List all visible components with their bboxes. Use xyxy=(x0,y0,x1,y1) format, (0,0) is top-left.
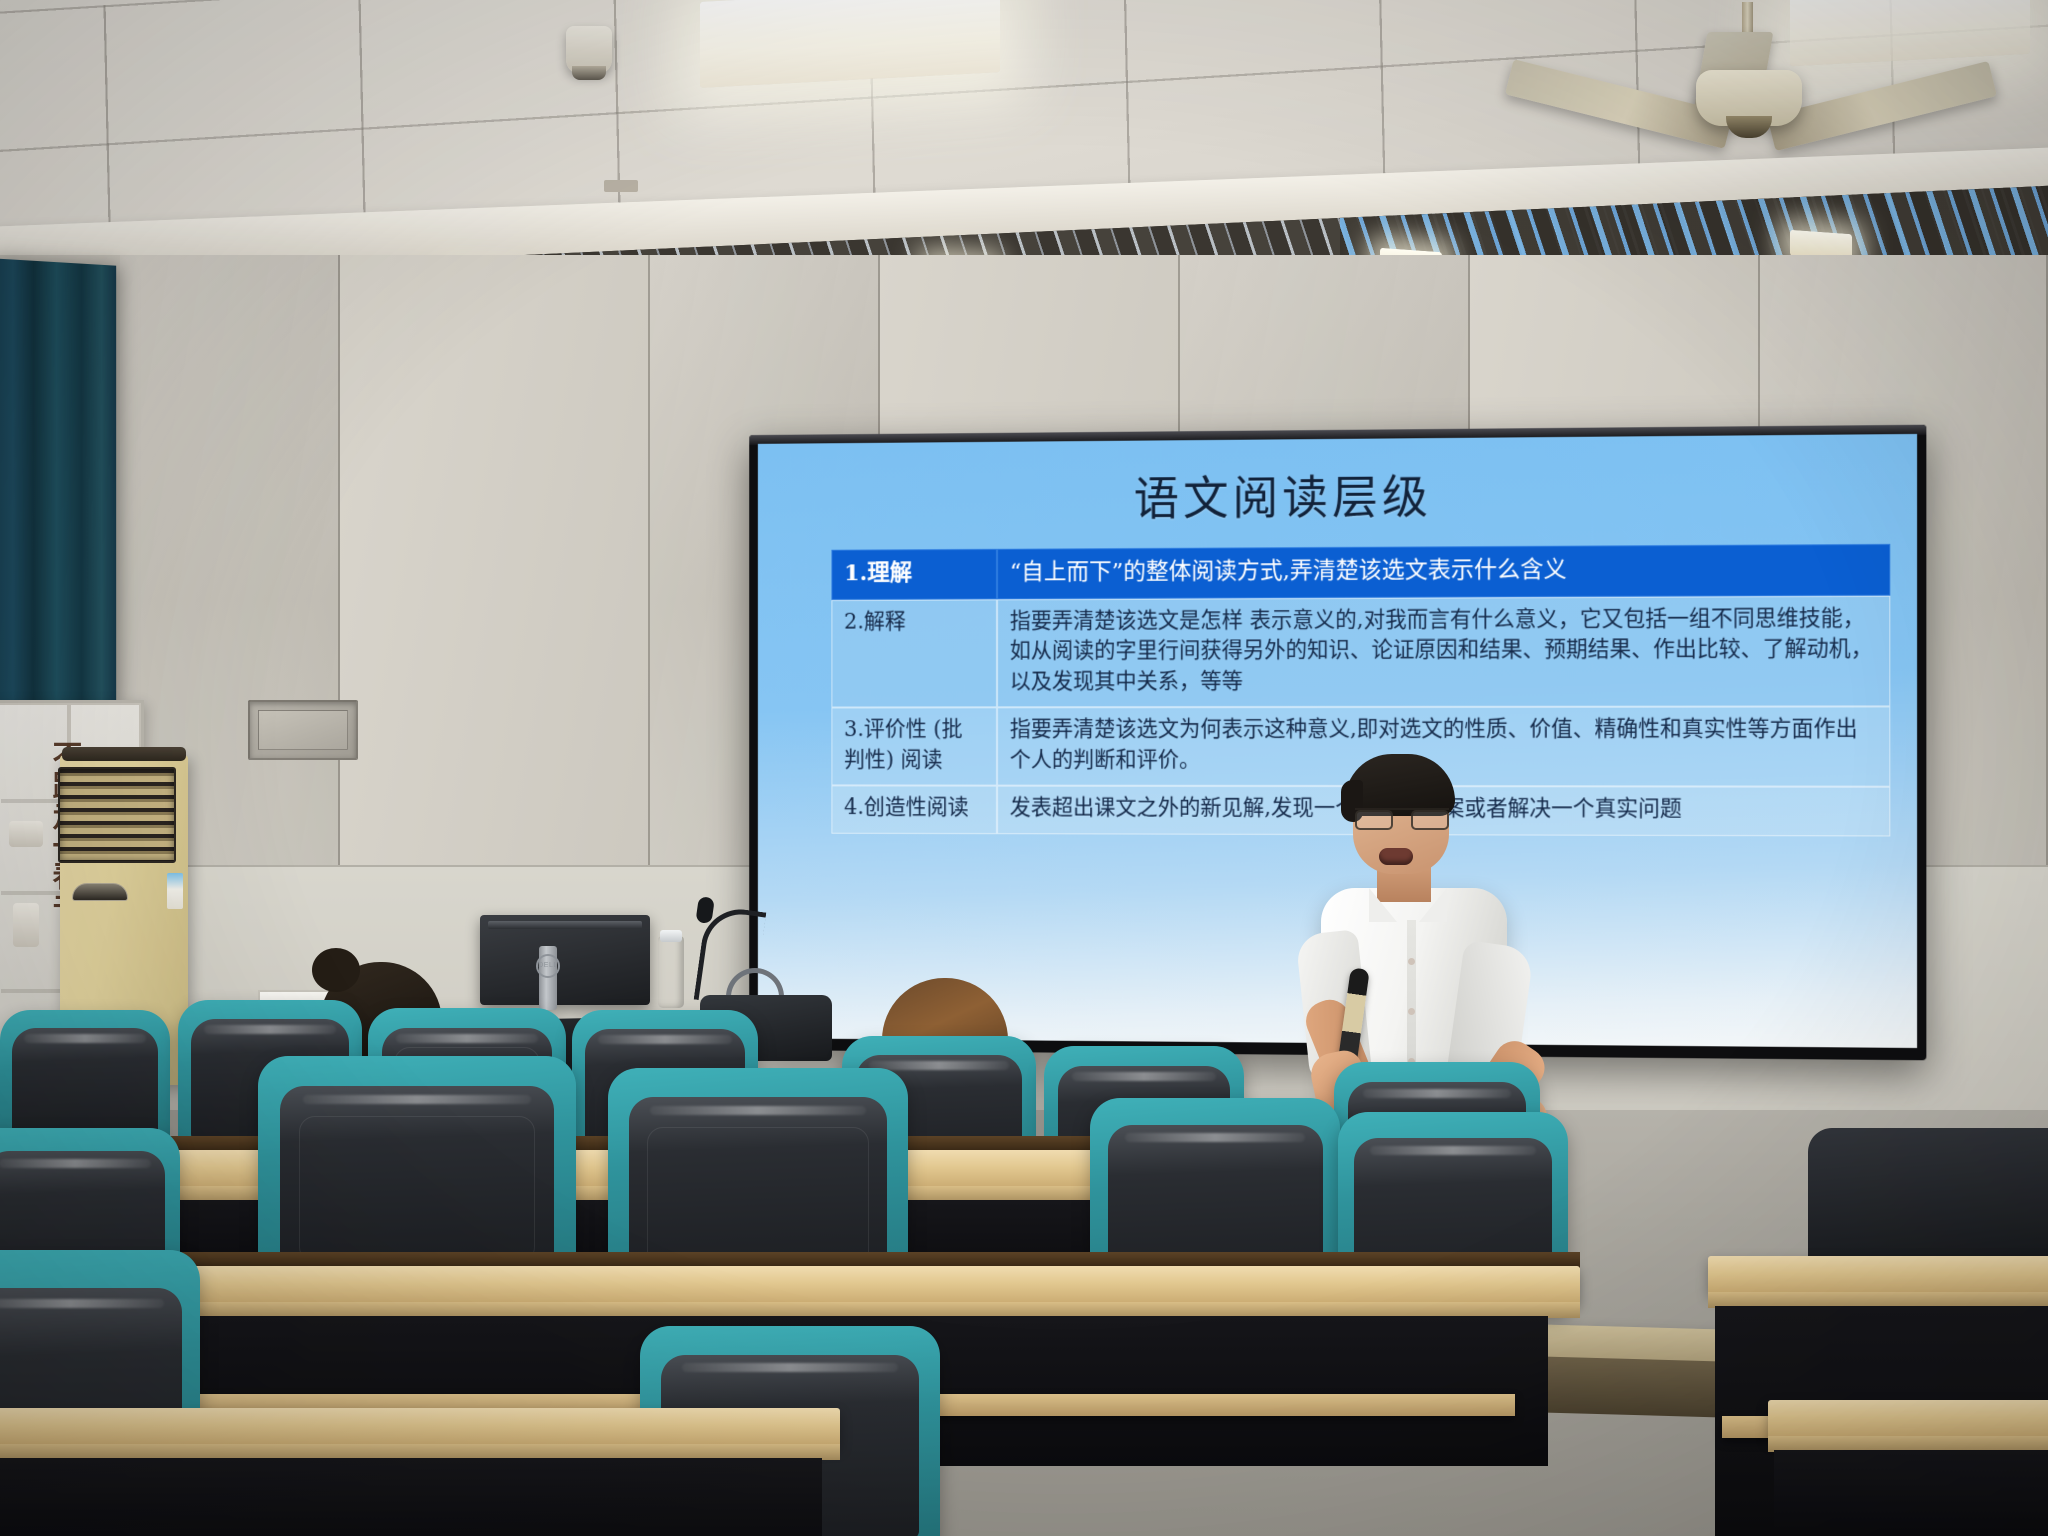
chair-highlight xyxy=(598,1035,732,1044)
chair-highlight xyxy=(1370,1146,1536,1155)
slide-row-label: 2.解释 xyxy=(831,599,997,708)
slide-title: 语文阅读层级 xyxy=(758,456,1917,530)
cabinet-item-vase xyxy=(13,903,39,947)
desk-surface[interactable] xyxy=(1768,1400,2048,1438)
slide-row-text: “自上而下”的整体阅读方式,弄清楚该选文表示什么含义 xyxy=(997,544,1890,599)
chair-seam xyxy=(299,1116,534,1263)
slide-row-label: 1.理解 xyxy=(831,549,997,600)
desk-body xyxy=(1774,1450,2048,1536)
chair-highlight xyxy=(396,1034,539,1043)
window-curtain xyxy=(0,258,116,716)
chair-highlight xyxy=(1072,1072,1216,1081)
chair-highlight xyxy=(0,1299,164,1308)
presenter-hair xyxy=(1345,754,1455,816)
air-conditioner-vent-grill xyxy=(58,767,176,863)
classroom-photo-scene: 不路走一春书 语文阅读层级 1.理解 “自上而下”的整体阅读方式,弄清楚该选文表… xyxy=(0,0,2048,1536)
presenter-shirt-button xyxy=(1408,1008,1415,1015)
slide-table-row: 2.解释 指要弄清楚该选文是怎样 表示意义的,对我而言有什么意义，它又包括一组不… xyxy=(831,595,1890,707)
glasses-icon xyxy=(1355,808,1449,828)
cabinet-item-box xyxy=(9,821,43,847)
wall-service-panel xyxy=(248,700,358,760)
presenter-collar-right xyxy=(1419,888,1447,922)
desk-body xyxy=(0,1458,822,1536)
chair-highlight xyxy=(204,1025,336,1034)
chair-seam xyxy=(647,1127,869,1272)
chair-highlight xyxy=(1125,1133,1305,1142)
dell-monitor[interactable] xyxy=(480,915,650,1005)
smoke-detector xyxy=(566,26,612,74)
dell-logo-icon: DELL xyxy=(536,954,560,978)
chair-highlight xyxy=(303,1095,532,1104)
presenter-mouth xyxy=(1379,848,1413,865)
slide-row-text: 指要弄清楚该选文是怎样 表示意义的,对我而言有什么意义，它又包括一组不同思维技能… xyxy=(997,595,1890,707)
chair-highlight xyxy=(0,1159,151,1168)
presenter-collar-left xyxy=(1369,888,1397,922)
desk-surface[interactable] xyxy=(0,1408,840,1446)
slide-row-label: 3.评价性 (批 判性) 阅读 xyxy=(831,708,997,786)
water-bottle[interactable] xyxy=(658,936,684,1008)
glasses-lens-left xyxy=(1355,810,1393,830)
chair-highlight xyxy=(24,1034,146,1043)
air-conditioner-control-panel[interactable] xyxy=(72,883,128,901)
ceiling-vent-stub xyxy=(604,180,638,192)
glasses-lens-right xyxy=(1411,810,1449,830)
chair-highlight xyxy=(1363,1089,1511,1098)
presenter-shirt-button xyxy=(1408,958,1415,965)
student-desk xyxy=(1768,1400,2048,1536)
chair-highlight xyxy=(650,1106,866,1115)
air-conditioner-top-cap xyxy=(62,747,186,761)
ceiling-fan-blade-right xyxy=(1767,61,1997,151)
air-conditioner-energy-label xyxy=(167,873,183,909)
desk-surface[interactable] xyxy=(1708,1256,2048,1294)
slide-table-row: 1.理解 “自上而下”的整体阅读方式,弄清楚该选文表示什么含义 xyxy=(831,544,1890,600)
chair-highlight xyxy=(682,1363,898,1372)
slide-row-label: 4.创造性阅读 xyxy=(831,786,997,834)
desk-surface[interactable] xyxy=(0,1266,1580,1304)
ceiling-fan-hub-cap xyxy=(1726,116,1772,138)
water-bottle-cap xyxy=(660,930,682,942)
student-desk xyxy=(0,1408,840,1536)
